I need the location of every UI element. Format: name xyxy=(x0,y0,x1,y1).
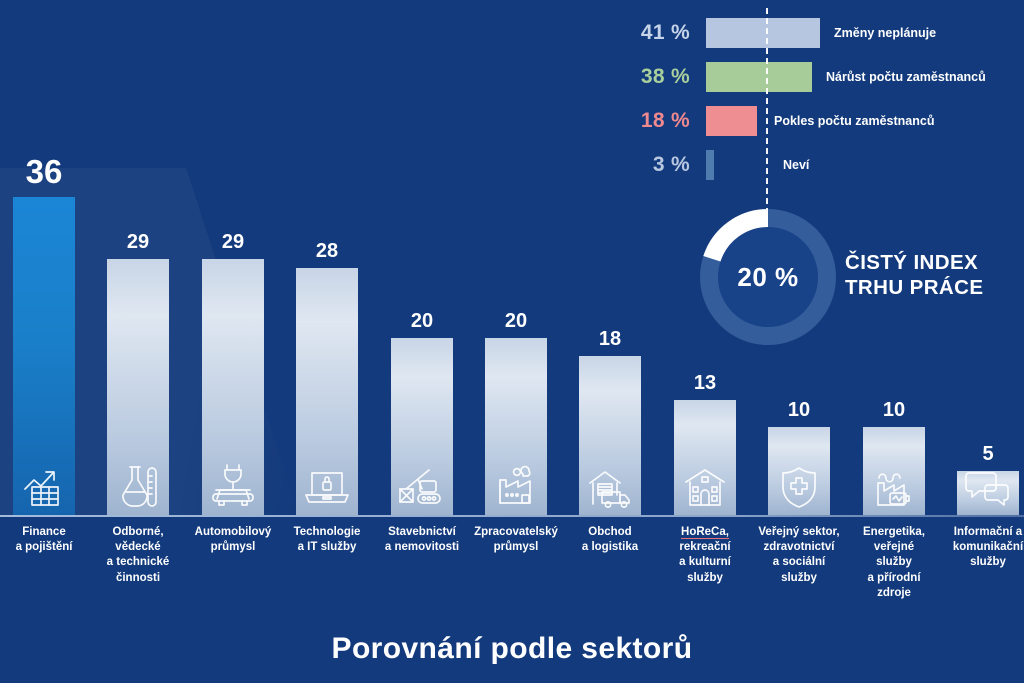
page-title: Porovnání podle sektorů xyxy=(0,632,1024,666)
category-label: Energetika,veřejnéslužbya přírodnízdroje xyxy=(851,525,937,601)
shield-cross-icon xyxy=(768,465,830,509)
category-label-line: a kulturní xyxy=(662,555,748,570)
category-label: Informační akomunikačníslužby xyxy=(945,525,1024,571)
bar-column: 5Informační akomunikačníslužby xyxy=(957,0,1019,515)
category-label-line: Informační a xyxy=(945,525,1024,540)
category-label-line: a nemovitosti xyxy=(379,540,465,555)
category-label: Zpracovatelskýprůmysl xyxy=(473,525,559,555)
bar xyxy=(579,356,641,515)
bar-column: 20Zpracovatelskýprůmysl xyxy=(485,0,547,515)
category-label-line: a sociální xyxy=(756,555,842,570)
category-label-line: služby xyxy=(945,555,1024,570)
bar-column: 13HoReCa,rekreačnía kulturníslužby xyxy=(674,0,736,515)
category-label-line: HoReCa, xyxy=(662,525,748,540)
bar-value-label: 10 xyxy=(768,399,830,422)
category-label-line: a technické xyxy=(95,555,181,570)
bar-value-label: 28 xyxy=(296,240,358,263)
category-label-line: Energetika, xyxy=(851,525,937,540)
category-label-line: služby xyxy=(851,555,937,570)
category-label-line: služby xyxy=(756,571,842,586)
category-label-line: rekreační xyxy=(662,540,748,555)
category-label: Odborné,vědeckéa technickéčinnosti xyxy=(95,525,181,586)
category-label-line: komunikační xyxy=(945,540,1024,555)
bar-column: 36Financea pojištění xyxy=(13,0,75,515)
category-label-line: služby xyxy=(662,571,748,586)
category-label-line: a IT služby xyxy=(284,540,370,555)
category-label: Financea pojištění xyxy=(1,525,87,555)
bar-column: 28Technologiea IT služby xyxy=(296,0,358,515)
powerplant-battery-icon xyxy=(863,465,925,509)
category-label-line: Odborné, xyxy=(95,525,181,540)
bar xyxy=(863,427,925,515)
excavator-icon xyxy=(391,465,453,509)
bar-value-label: 18 xyxy=(579,328,641,351)
category-label: Veřejný sektor,zdravotnictvía sociálnísl… xyxy=(756,525,842,586)
category-label-line: Finance xyxy=(1,525,87,540)
laptop-lock-icon xyxy=(296,467,358,509)
bar-column: 29Odborné,vědeckéa technickéčinnosti xyxy=(107,0,169,515)
bar-column: 10Veřejný sektor,zdravotnictvía sociální… xyxy=(768,0,830,515)
bar xyxy=(202,259,264,515)
bar xyxy=(957,471,1019,515)
bar-value-label: 29 xyxy=(202,231,264,254)
bar-value-label: 20 xyxy=(391,310,453,333)
bar-column: 29Automobilovýprůmysl xyxy=(202,0,264,515)
category-label-line: Stavebnictví xyxy=(379,525,465,540)
bar xyxy=(391,338,453,515)
speech-bubbles-icon xyxy=(957,467,1019,509)
bar xyxy=(674,400,736,515)
category-label-line: a pojištění xyxy=(1,540,87,555)
category-label-line: zdravotnictví xyxy=(756,540,842,555)
bar-column: 10Energetika,veřejnéslužbya přírodnízdro… xyxy=(863,0,925,515)
hotel-icon xyxy=(674,465,736,509)
category-label-line: a logistika xyxy=(567,540,653,555)
bar-value-label: 10 xyxy=(863,399,925,422)
flask-icon xyxy=(107,461,169,509)
category-label: Stavebnictvía nemovitosti xyxy=(379,525,465,555)
bar xyxy=(107,259,169,515)
category-label: HoReCa,rekreačnía kulturníslužby xyxy=(662,525,748,586)
category-label-line: Automobilový xyxy=(190,525,276,540)
category-label-line: Zpracovatelský xyxy=(473,525,559,540)
category-label-line: průmysl xyxy=(190,540,276,555)
category-label-line: vědecké xyxy=(95,540,181,555)
category-label-line: Obchod xyxy=(567,525,653,540)
category-label-line: Veřejný sektor, xyxy=(756,525,842,540)
bar xyxy=(768,427,830,515)
category-label-line: zdroje xyxy=(851,586,937,601)
bar-column: 20Stavebnictvía nemovitosti xyxy=(391,0,453,515)
category-label-line: průmysl xyxy=(473,540,559,555)
category-label-emphasis: HoReCa, xyxy=(681,526,729,539)
bar xyxy=(296,268,358,515)
electric-car-icon xyxy=(202,461,264,509)
category-label: Obchoda logistika xyxy=(567,525,653,555)
category-label-line: Technologie xyxy=(284,525,370,540)
category-label-line: činnosti xyxy=(95,571,181,586)
sector-bar-chart: 36Financea pojištění 29Odborné,vědeckéa … xyxy=(0,0,1024,683)
bar-value-label: 13 xyxy=(674,372,736,395)
bar-value-label: 5 xyxy=(957,443,1019,466)
bar-value-label: 29 xyxy=(107,231,169,254)
factory-icon xyxy=(485,465,547,509)
bar xyxy=(485,338,547,515)
category-label-line: a přírodní xyxy=(851,571,937,586)
category-label: Automobilovýprůmysl xyxy=(190,525,276,555)
bar-highlighted xyxy=(13,197,75,515)
category-label-line: veřejné xyxy=(851,540,937,555)
category-label: Technologiea IT služby xyxy=(284,525,370,555)
bar-value-label: 36 xyxy=(13,153,75,191)
chart-table-icon xyxy=(13,465,75,509)
warehouse-truck-icon xyxy=(579,465,641,509)
bar-column: 18Obchoda logistika xyxy=(579,0,641,515)
bar-value-label: 20 xyxy=(485,310,547,333)
